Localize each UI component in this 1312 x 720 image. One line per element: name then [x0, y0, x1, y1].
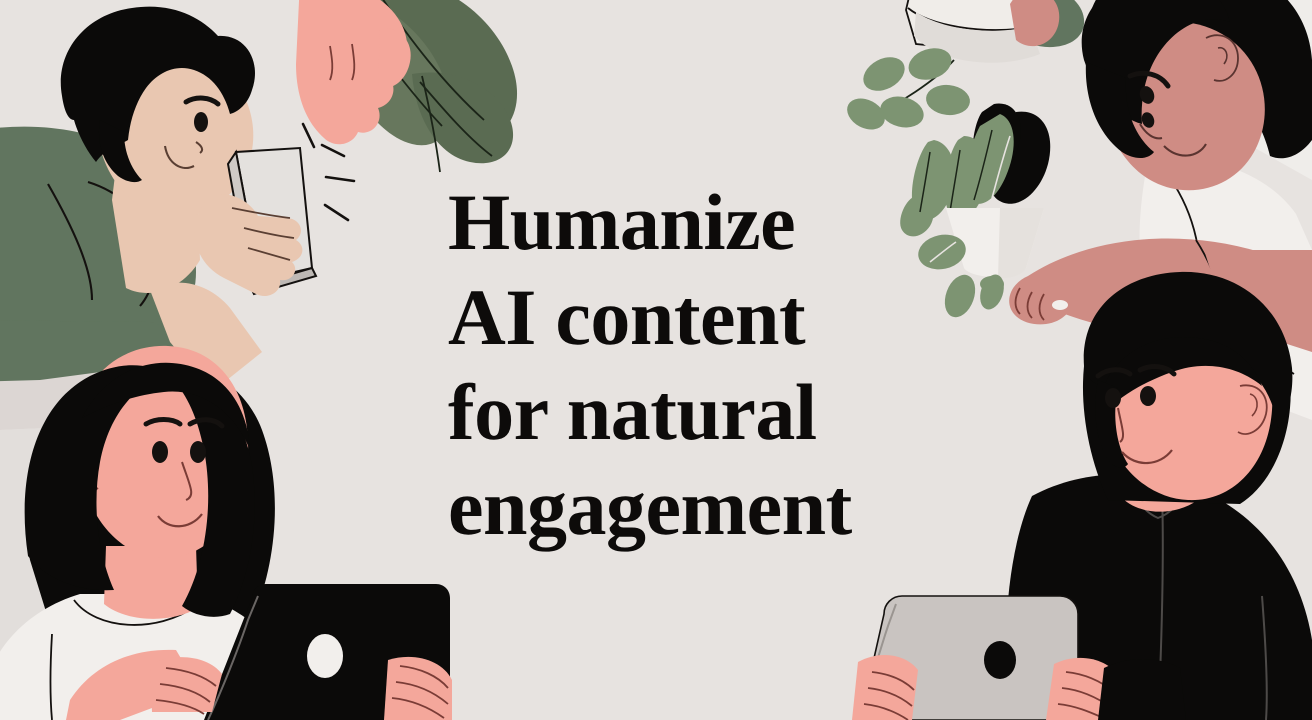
hand-left [852, 655, 918, 720]
eye [190, 441, 206, 463]
laptop-logo [984, 641, 1016, 679]
forearm [1098, 659, 1186, 720]
laptop-logo [307, 634, 343, 678]
eye [152, 441, 168, 463]
eye [1105, 388, 1121, 408]
illustration-artwork [0, 0, 1312, 720]
poster-canvas: Humanize AI content for natural engageme… [0, 0, 1312, 720]
fingertip-highlight [1052, 300, 1068, 310]
eye [1140, 386, 1156, 406]
eye [194, 112, 208, 132]
neck [104, 546, 198, 619]
